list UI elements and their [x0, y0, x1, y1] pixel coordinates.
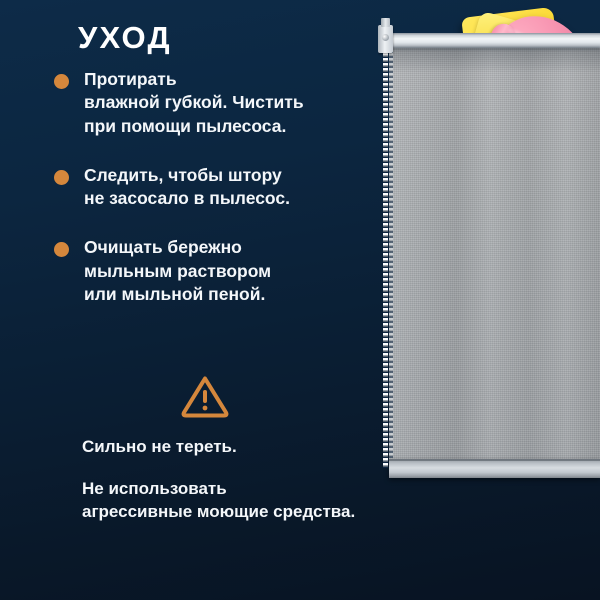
list-item: Протирать влажной губкой. Чистить при по…: [54, 68, 374, 138]
bead-chain: [383, 48, 388, 468]
bracket-top-plate: [381, 18, 390, 27]
list-item: Очищать бережно мыльным раствором или мы…: [54, 236, 374, 306]
bullet-dot-icon: [54, 170, 69, 185]
list-item: Следить, чтобы штору не засосало в пылес…: [54, 164, 374, 211]
bullet-dot-icon: [54, 242, 69, 257]
care-instructions-infographic: УХОД Протирать влажной губкой. Чистить п…: [0, 0, 600, 600]
warning-triangle-icon: [181, 374, 229, 418]
bottom-weight-bar: [389, 459, 600, 478]
roller-blind-photo: [378, 0, 600, 600]
bead-chain-back: [389, 48, 393, 458]
bullet-dot-icon: [54, 74, 69, 89]
bracket-screw: [382, 34, 389, 41]
warning-note: Не использовать агрессивные моющие средс…: [82, 478, 355, 524]
blind-fabric: [389, 47, 600, 465]
list-item-label: Следить, чтобы штору не засосало в пылес…: [84, 164, 374, 211]
fabric-top-shadow: [389, 47, 600, 73]
roller-tube: [389, 33, 600, 48]
care-bullet-list: Протирать влажной губкой. Чистить при по…: [54, 68, 374, 332]
warning-note: Сильно не тереть.: [82, 436, 237, 459]
page-title: УХОД: [78, 20, 172, 56]
list-item-label: Очищать бережно мыльным раствором или мы…: [84, 236, 374, 306]
list-item-label: Протирать влажной губкой. Чистить при по…: [84, 68, 374, 138]
